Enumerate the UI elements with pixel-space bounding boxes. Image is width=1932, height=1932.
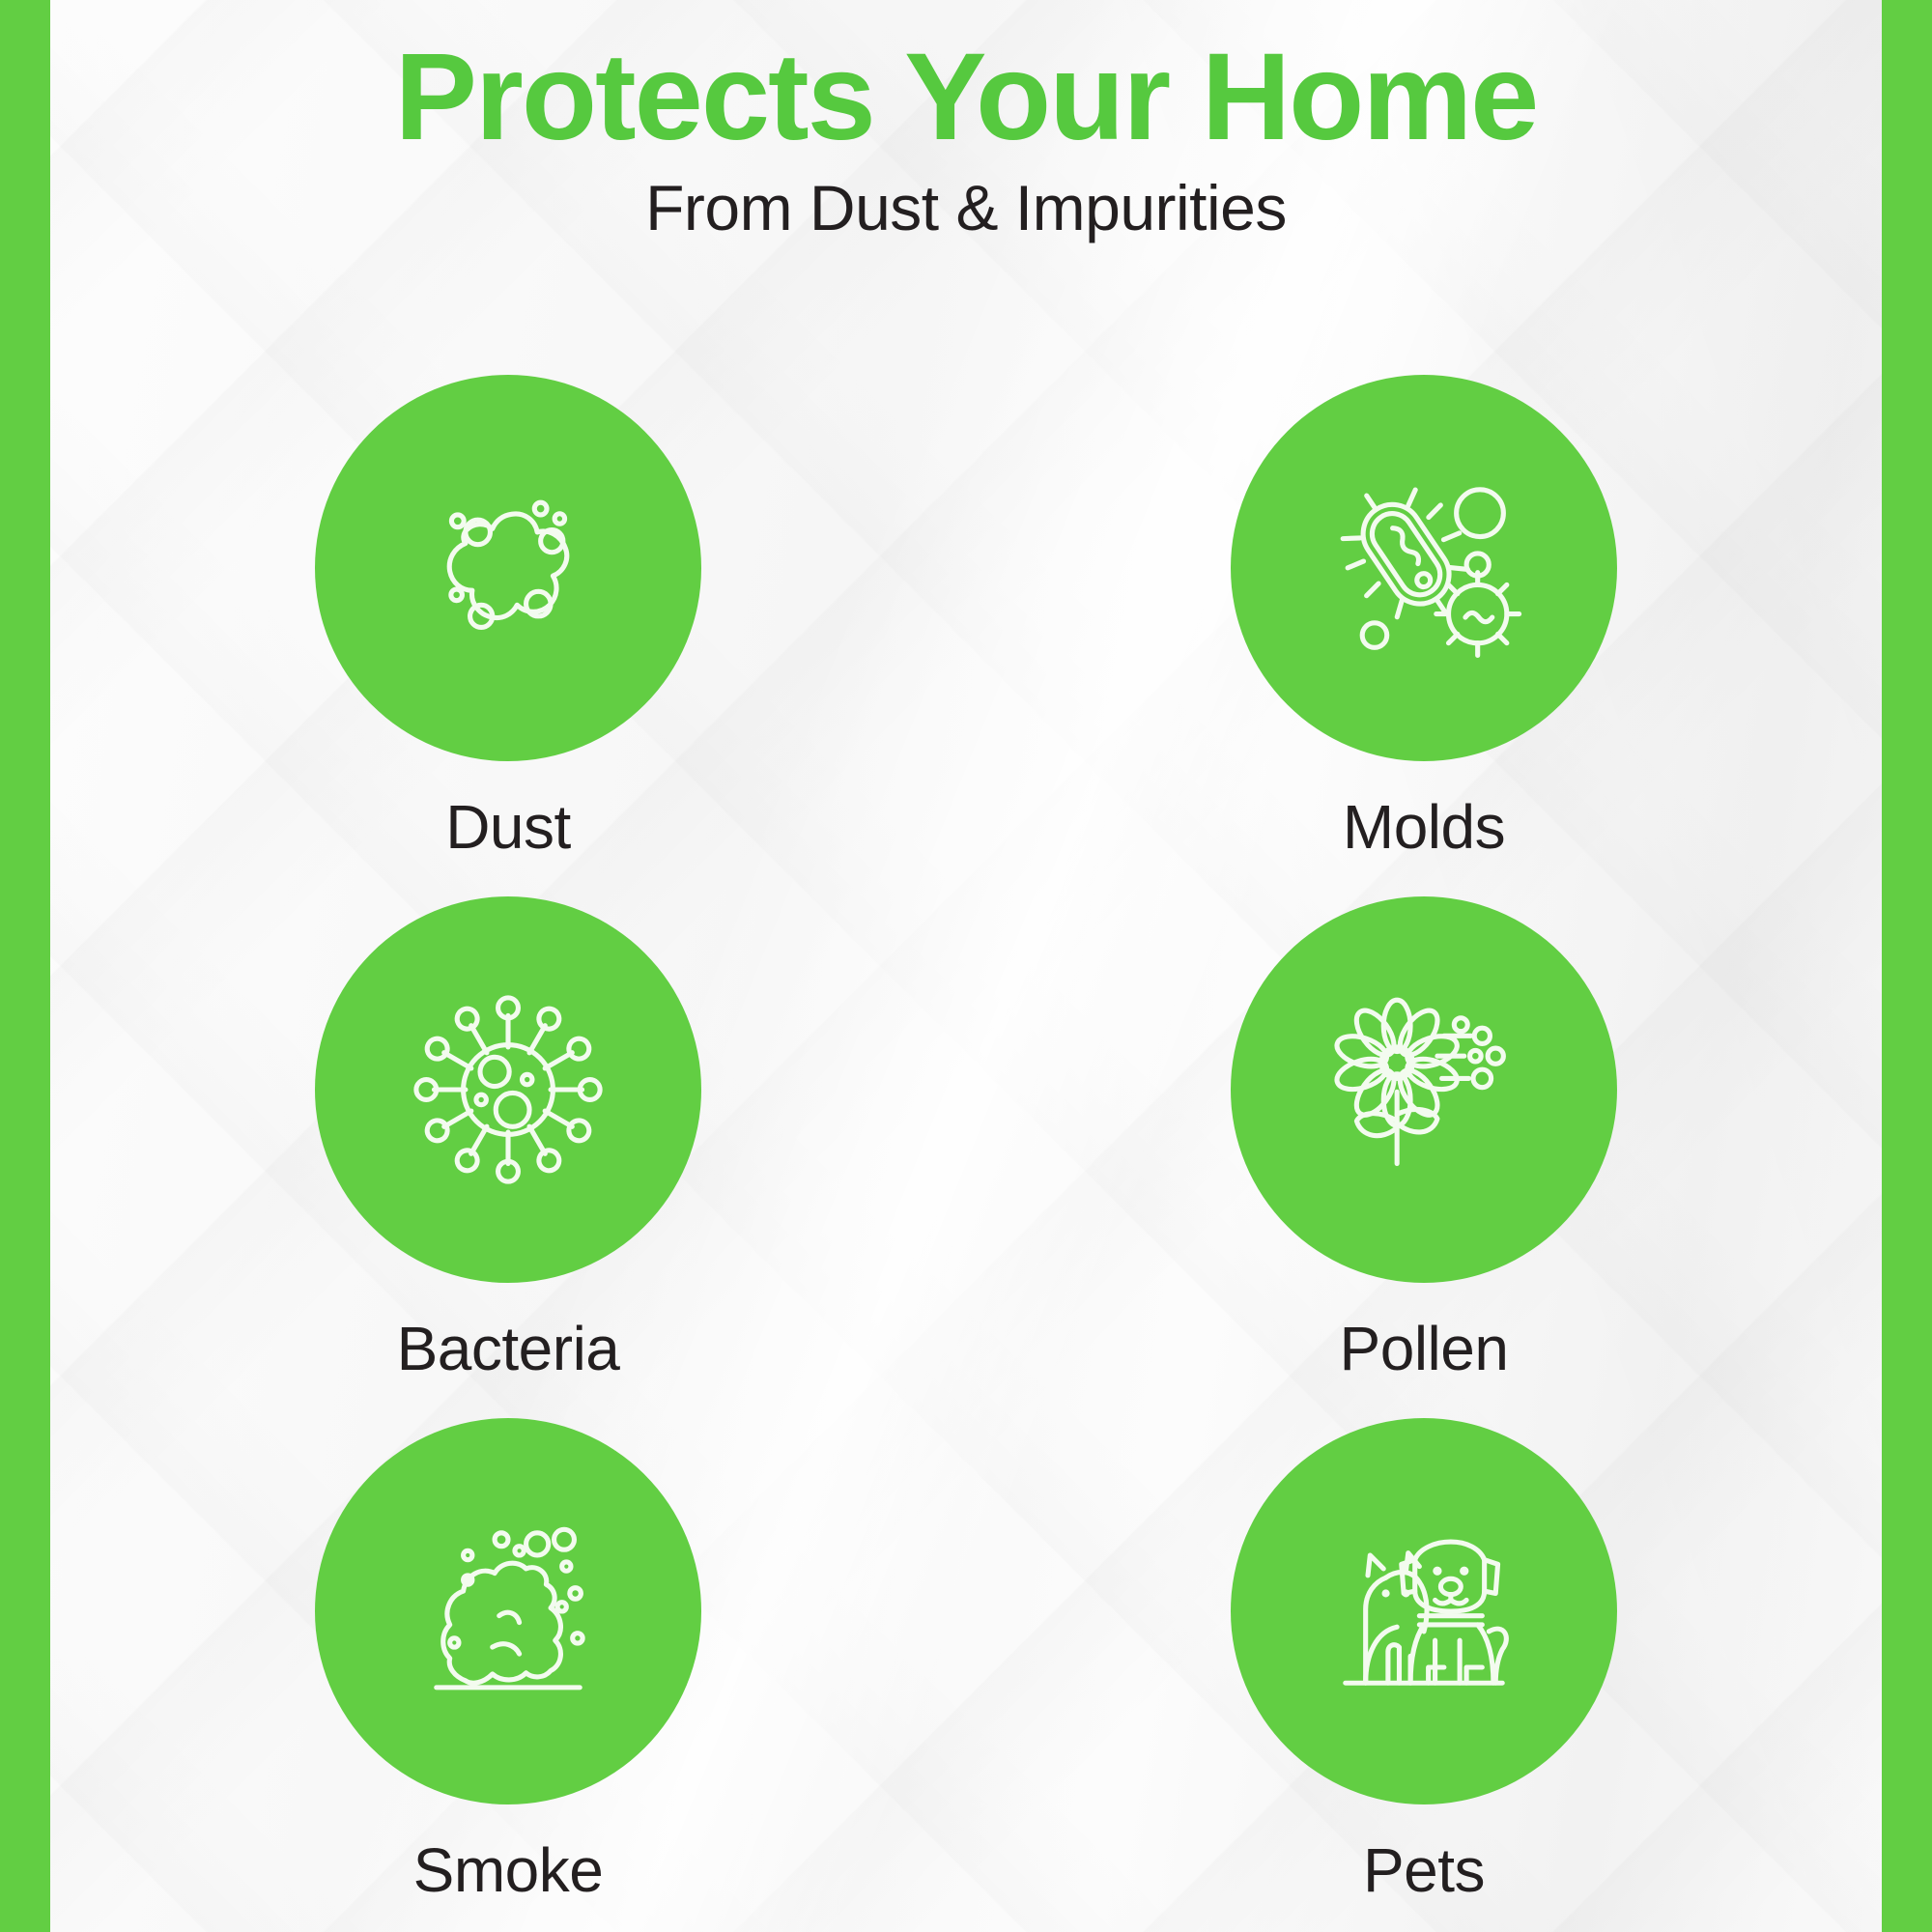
- feature-label: Dust: [445, 796, 571, 858]
- dust-badge: [315, 375, 701, 761]
- protects-your-home-poster: Protects Your Home From Dust & Impuritie…: [0, 0, 1932, 1932]
- feature-label: Smoke: [413, 1839, 604, 1901]
- flower-pollen-icon: [1312, 978, 1536, 1202]
- left-green-rail: [0, 0, 50, 1932]
- molds-badge: [1231, 375, 1617, 761]
- feature-item-pets: Pets: [966, 1410, 1882, 1932]
- page-subtitle: From Dust & Impurities: [50, 175, 1882, 241]
- feature-label: Pets: [1363, 1839, 1485, 1901]
- pollen-badge: [1231, 896, 1617, 1283]
- feature-label: Pollen: [1340, 1318, 1509, 1379]
- feature-grid: Dust: [50, 367, 1882, 1932]
- right-green-rail: [1882, 0, 1932, 1932]
- feature-item-pollen: Pollen: [966, 889, 1882, 1410]
- germ-virus-icon: [396, 978, 620, 1202]
- dust-cloud-icon: [396, 456, 620, 680]
- feature-label: Molds: [1343, 796, 1505, 858]
- pets-badge: [1231, 1418, 1617, 1804]
- smoke-plume-icon: [396, 1499, 620, 1723]
- feature-item-bacteria: Bacteria: [50, 889, 966, 1410]
- bacteria-badge: [315, 896, 701, 1283]
- feature-item-dust: Dust: [50, 367, 966, 889]
- dog-cat-icon: [1312, 1499, 1536, 1723]
- feature-item-molds: Molds: [966, 367, 1882, 889]
- feature-label: Bacteria: [397, 1318, 620, 1379]
- page-title: Protects Your Home: [50, 35, 1882, 161]
- header: Protects Your Home From Dust & Impuritie…: [50, 35, 1882, 241]
- mold-bacterium-icon: [1312, 456, 1536, 680]
- feature-item-smoke: Smoke: [50, 1410, 966, 1932]
- smoke-badge: [315, 1418, 701, 1804]
